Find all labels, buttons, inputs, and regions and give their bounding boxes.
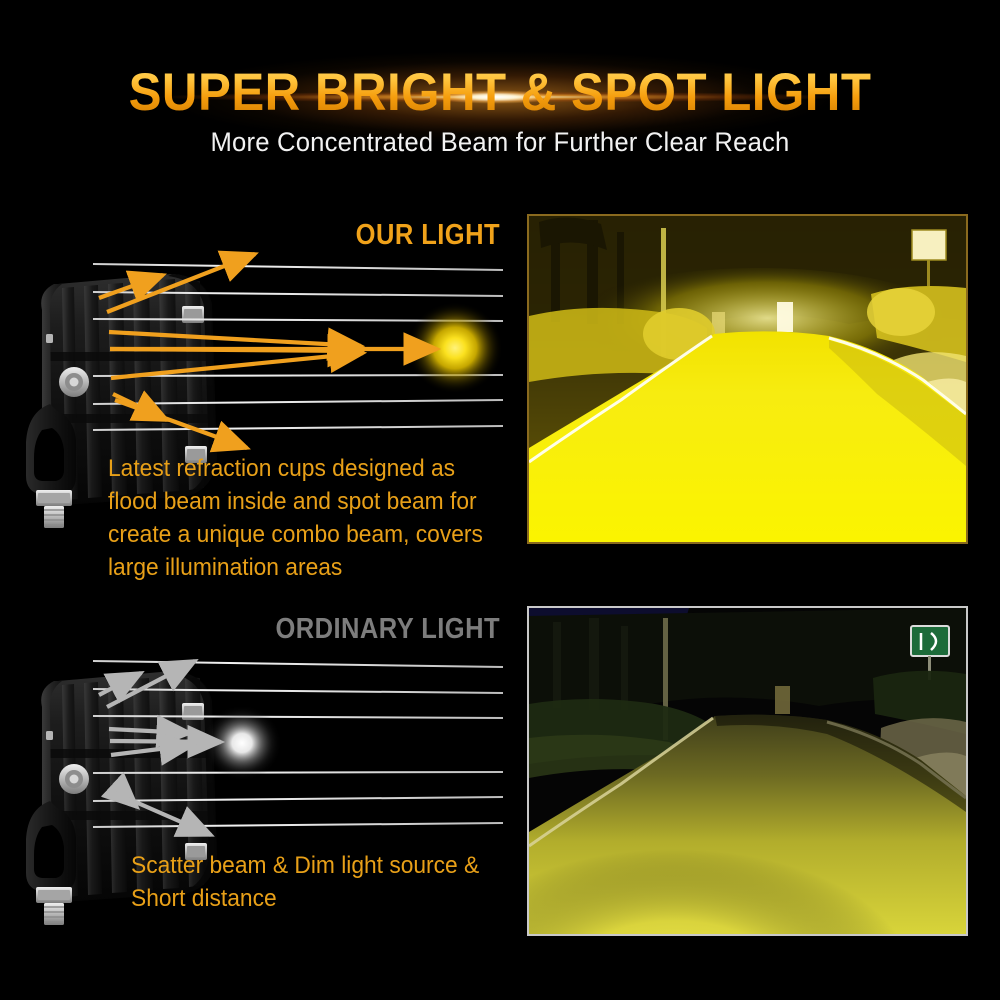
- photo-our-light: [527, 214, 968, 544]
- beam-guide-lines: [93, 661, 503, 827]
- product-marketing-page: SUPER BRIGHT & SPOT LIGHT More Concentra…: [0, 0, 1000, 1000]
- distant-sign: [775, 686, 790, 714]
- beam-diagram-ordinary-light: [85, 645, 505, 855]
- page-title: SUPER BRIGHT & SPOT LIGHT: [35, 62, 965, 123]
- photo-ordinary-light: [527, 606, 968, 936]
- beam-arrows-our: [99, 254, 437, 448]
- page-subtitle: More Concentrated Beam for Further Clear…: [25, 127, 975, 158]
- description-our-light: Latest refraction cups designed as flood…: [108, 452, 508, 584]
- distant-light: [777, 302, 793, 332]
- header-banner: SUPER BRIGHT & SPOT LIGHT More Concentra…: [0, 0, 1000, 185]
- description-ordinary-light: Scatter beam & Dim light source & Short …: [131, 849, 522, 915]
- beam-diagram-our-light: [85, 248, 505, 458]
- mounting-stud: [36, 490, 72, 528]
- mounting-stud: [36, 887, 72, 925]
- section-label-ordinary-light: ORDINARY LIGHT: [218, 613, 500, 646]
